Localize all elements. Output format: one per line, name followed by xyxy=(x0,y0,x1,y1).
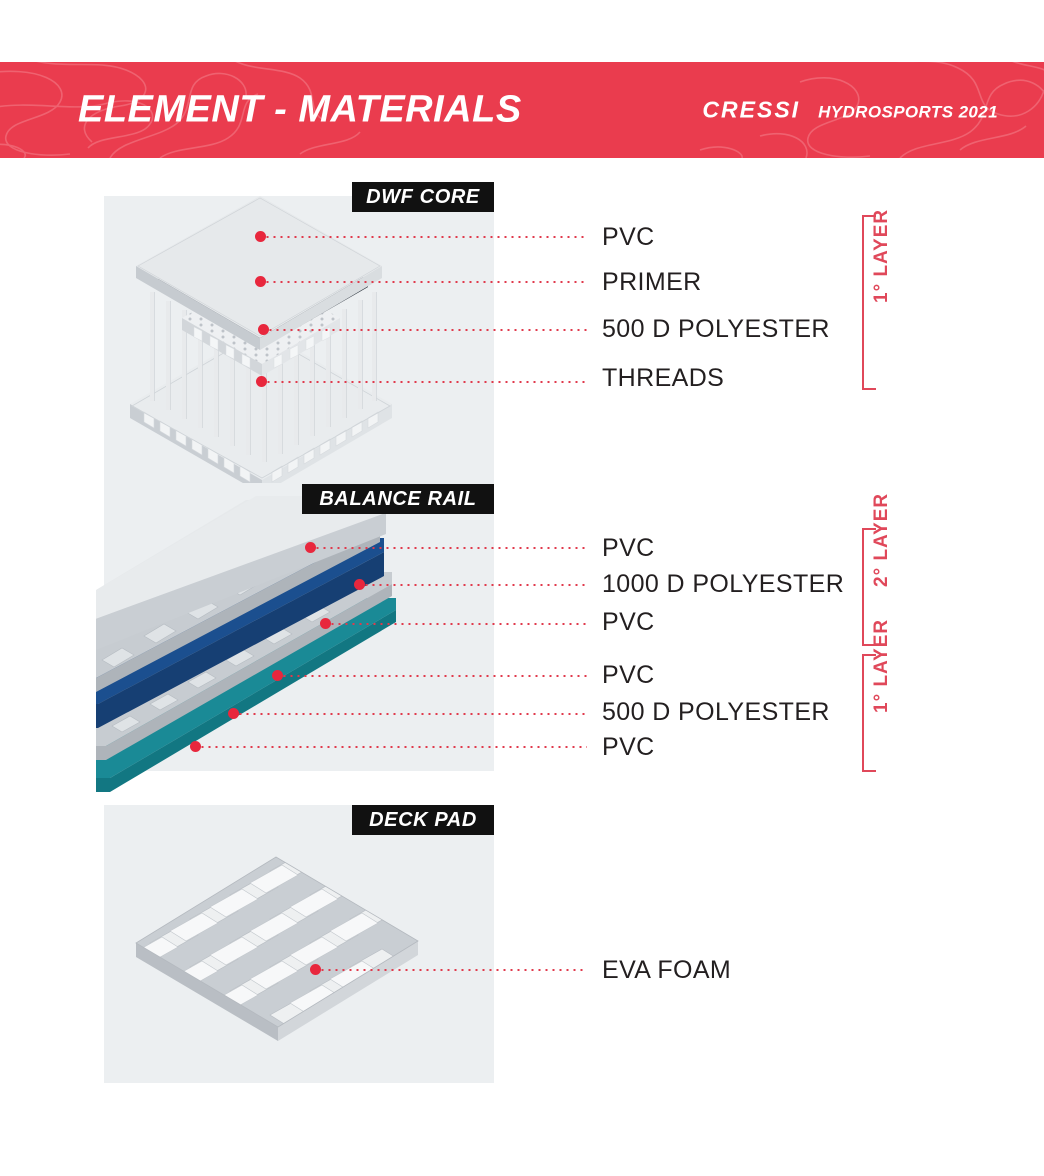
badge-deck-pad: DECK PAD xyxy=(352,805,494,835)
bracket-dwf-layer1: 1° LAYER xyxy=(862,215,912,390)
leader-line xyxy=(199,746,587,748)
page-title: ELEMENT - MATERIALS xyxy=(78,89,522,132)
leader-line xyxy=(281,675,587,677)
leader-br-2 xyxy=(354,583,587,586)
balance-rail-illustration xyxy=(96,490,426,810)
label-dwf-polyester: 500 D POLYESTER xyxy=(602,317,830,342)
leader-line xyxy=(329,623,587,625)
leader-br-1 xyxy=(305,546,587,549)
label-br-polyester-500: 500 D POLYESTER xyxy=(602,700,830,725)
label-br-pvc-2: PVC xyxy=(602,610,655,635)
leader-line xyxy=(267,329,587,331)
label-br-polyester-1000: 1000 D POLYESTER xyxy=(602,572,844,597)
bracket-label: 2° LAYER xyxy=(871,493,893,587)
bracket-label: 1° LAYER xyxy=(871,208,893,302)
leader-line xyxy=(363,584,587,586)
leader-br-4 xyxy=(272,674,587,677)
leader-br-5 xyxy=(228,712,587,715)
label-dwf-primer: PRIMER xyxy=(602,270,702,295)
bracket-br-layer1: 1° LAYER xyxy=(862,654,912,772)
cressi-logo: CRESSI xyxy=(702,97,800,124)
label-br-pvc-1: PVC xyxy=(602,536,655,561)
leader-line xyxy=(264,281,587,283)
leader-line xyxy=(314,547,587,549)
bracket-label: 1° LAYER xyxy=(871,619,893,713)
leader-line xyxy=(265,381,587,383)
leader-dwf-3 xyxy=(258,328,587,331)
leader-dwf-4 xyxy=(256,380,587,383)
label-dwf-pvc: PVC xyxy=(602,225,655,250)
label-eva-foam: EVA FOAM xyxy=(602,958,731,983)
leader-br-3 xyxy=(320,622,587,625)
label-br-pvc-3: PVC xyxy=(602,663,655,688)
label-br-pvc-4: PVC xyxy=(602,735,655,760)
brand-tagline: HYDROSPORTS 2021 xyxy=(818,103,998,123)
infographic-page: ELEMENT - MATERIALS CRESSI HYDROSPORTS 2… xyxy=(0,0,1044,1176)
header-banner: ELEMENT - MATERIALS CRESSI HYDROSPORTS 2… xyxy=(0,62,1044,158)
page-title-text: ELEMENT - MATERIALS xyxy=(78,89,522,131)
leader-dwf-2 xyxy=(255,280,587,283)
leader-dwf-1 xyxy=(255,235,587,238)
label-dwf-threads: THREADS xyxy=(602,366,724,391)
brand-lockup: CRESSI HYDROSPORTS 2021 xyxy=(702,97,998,124)
leader-line xyxy=(319,969,587,971)
leader-dp-1 xyxy=(310,968,587,971)
badge-dwf-core: DWF CORE xyxy=(352,182,494,212)
leader-line xyxy=(237,713,587,715)
leader-br-6 xyxy=(190,745,587,748)
deck-pad-illustration xyxy=(126,845,426,1045)
badge-balance-rail: BALANCE RAIL xyxy=(302,484,494,514)
leader-line xyxy=(264,236,587,238)
